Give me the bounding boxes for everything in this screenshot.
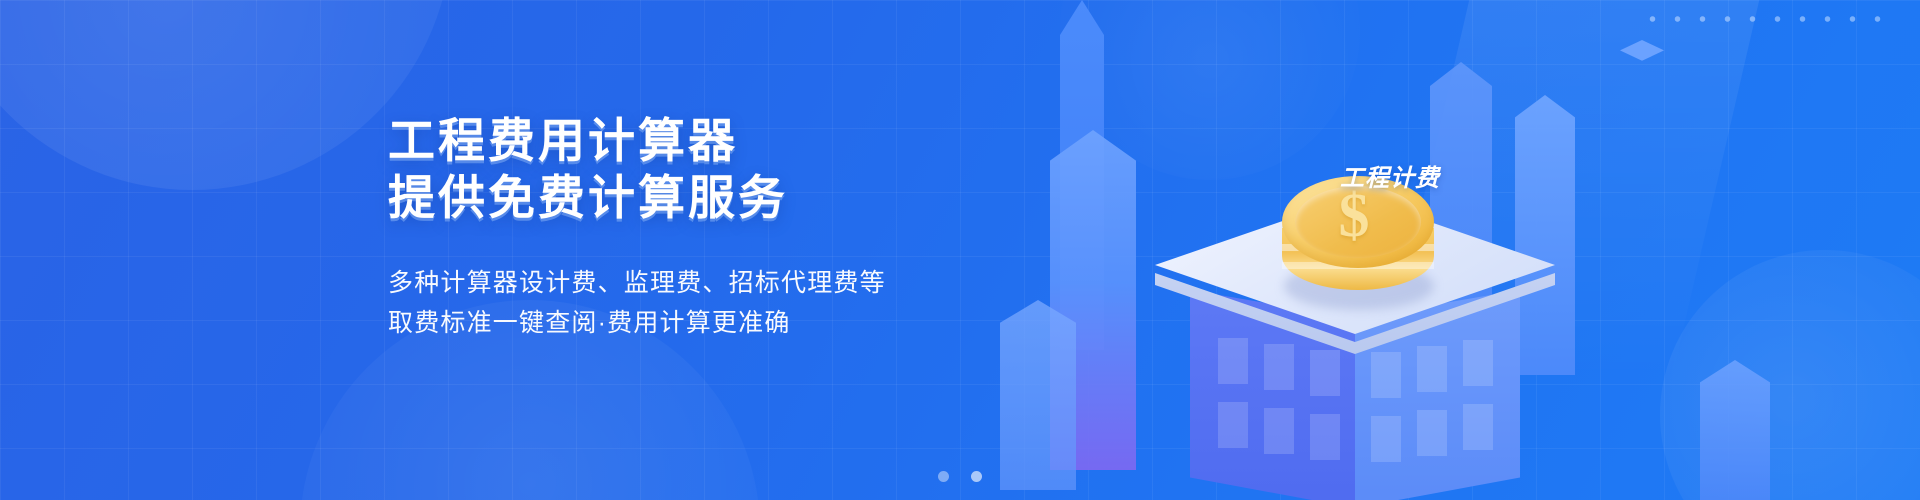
circle-decoration-top-left <box>0 0 452 190</box>
carousel-indicators[interactable] <box>0 471 1920 482</box>
banner-subtitle: 多种计算器设计费、监理费、招标代理费等 取费标准一键查阅·费用计算更准确 <box>388 263 1088 344</box>
banner-subtitle-line-2: 取费标准一键查阅·费用计算更准确 <box>388 303 1088 344</box>
banner-title-line-2: 提供免费计算服务 <box>388 169 1088 226</box>
carousel-dot-1[interactable] <box>938 471 949 482</box>
isometric-bar-far-cap-icon <box>1620 40 1664 66</box>
banner-illustration: $ 工程计费 <box>1060 0 1920 500</box>
carousel-dot-2[interactable] <box>971 471 982 482</box>
banner-title-line-1: 工程费用计算器 <box>388 112 1088 169</box>
illustration-label: 工程计费 <box>1340 158 1440 193</box>
promo-banner: $ 工程计费 工程费用计算器 提供免费计算服务 多种计算器设计费、监理费、招标代… <box>0 0 1920 500</box>
banner-subtitle-line-1: 多种计算器设计费、监理费、招标代理费等 <box>388 263 1088 304</box>
banner-copy: 工程费用计算器 提供免费计算服务 多种计算器设计费、监理费、招标代理费等 取费标… <box>388 112 1088 344</box>
